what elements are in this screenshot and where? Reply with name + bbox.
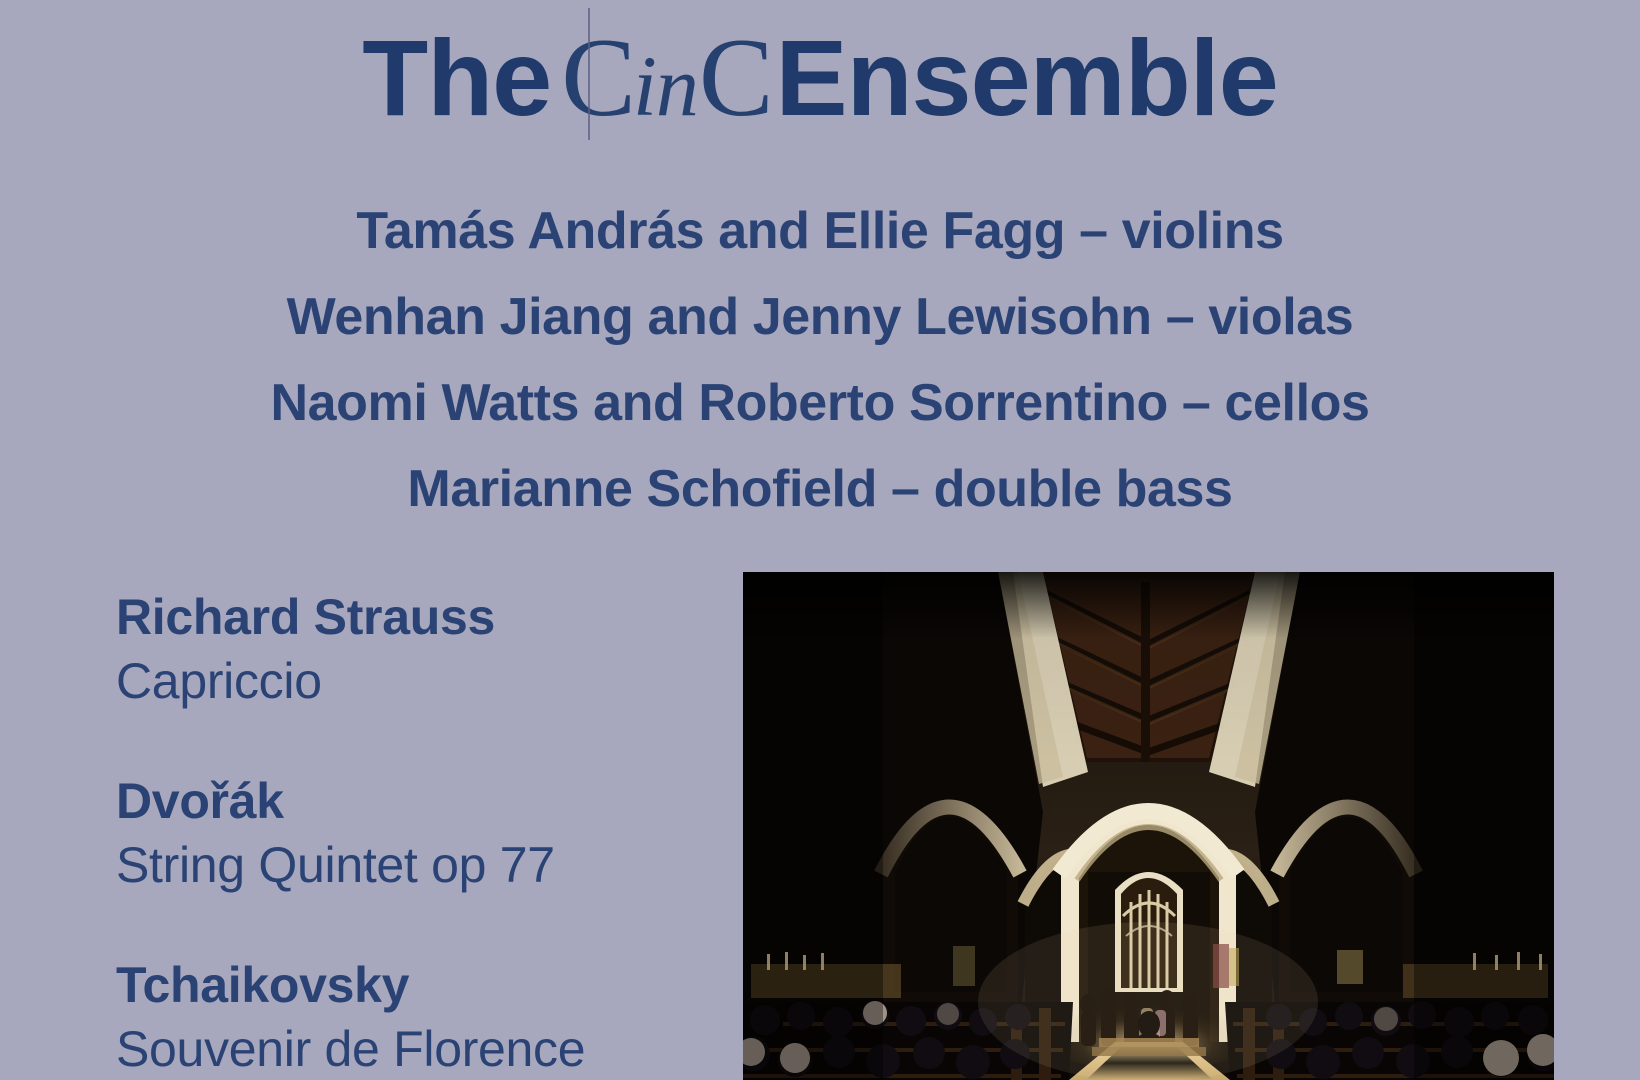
performer-line-violas: Wenhan Jiang and Jenny Lewisohn – violas	[0, 274, 1640, 360]
logo-c-first: C	[561, 16, 632, 140]
work-title: Capriccio	[116, 648, 716, 714]
work-title: String Quintet op 77	[116, 832, 716, 898]
programme-item: Richard Strauss Capriccio	[116, 586, 716, 714]
composer-name: Dvořák	[116, 770, 716, 832]
composer-name: Tchaikovsky	[116, 954, 716, 1016]
logo-in: in	[633, 38, 698, 134]
performer-line-cellos: Naomi Watts and Roberto Sorrentino – cel…	[0, 360, 1640, 446]
logo-c-second: C	[699, 16, 770, 140]
composer-name: Richard Strauss	[116, 586, 716, 648]
title-prefix: The	[362, 18, 551, 139]
programme-item: Dvořák String Quintet op 77	[116, 770, 716, 898]
programme-item: Tchaikovsky Souvenir de Florence	[116, 954, 716, 1080]
church-interior-illustration	[743, 572, 1554, 1080]
page-title: The CinC Ensemble	[0, 18, 1640, 139]
performer-list: Tamás András and Ellie Fagg – violins We…	[0, 188, 1640, 532]
performer-line-double-bass: Marianne Schofield – double bass	[0, 446, 1640, 532]
performer-line-violins: Tamás András and Ellie Fagg – violins	[0, 188, 1640, 274]
logo-stem-icon	[588, 8, 590, 140]
programme-list: Richard Strauss Capriccio Dvořák String …	[116, 586, 716, 1080]
cinc-logo: CinC	[561, 22, 769, 134]
concert-photo	[743, 572, 1554, 1080]
work-title: Souvenir de Florence	[116, 1016, 716, 1080]
concert-poster: The CinC Ensemble Tamás András and Ellie…	[0, 0, 1640, 1080]
title-suffix: Ensemble	[776, 18, 1278, 139]
